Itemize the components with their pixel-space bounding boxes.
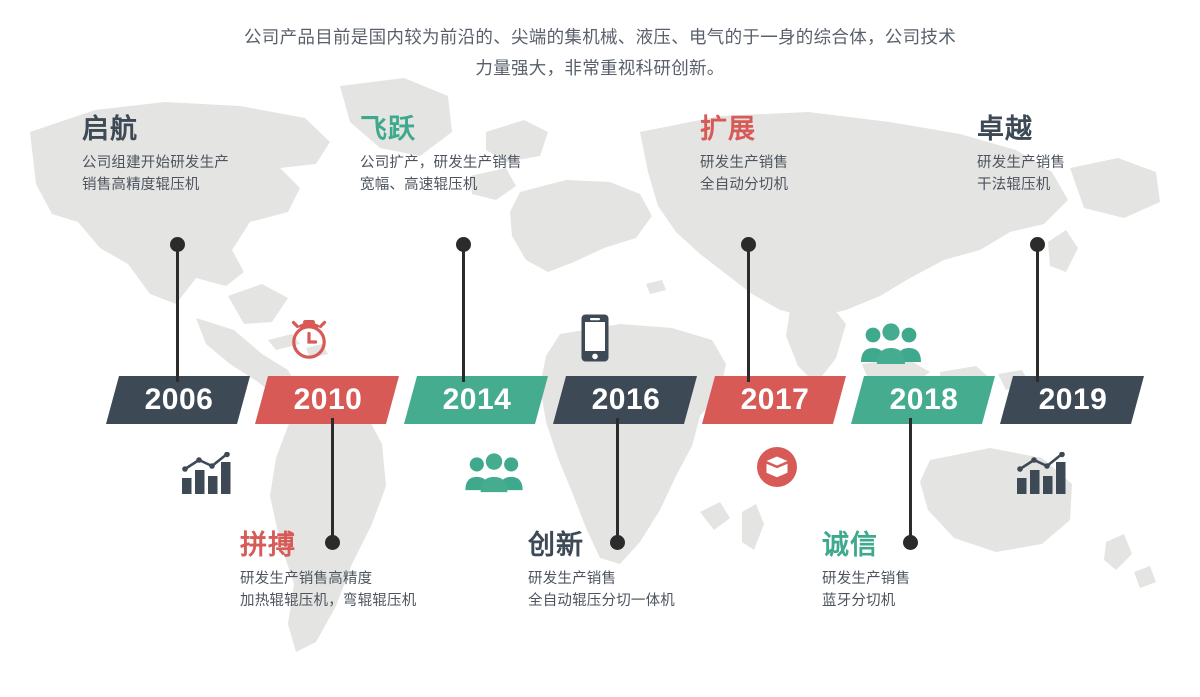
people-group-icon <box>860 322 922 366</box>
milestone-description: 公司组建开始研发生产 销售高精度辊压机 <box>82 152 312 196</box>
bar-chart-trend-icon <box>1015 452 1069 496</box>
alarm-clock-icon <box>286 314 332 362</box>
year-label: 2006 <box>145 383 214 417</box>
year-label: 2016 <box>592 383 661 417</box>
milestone-title: 飞跃 <box>360 112 595 146</box>
milestone-description: 公司扩产，研发生产销售 宽幅、高速辊压机 <box>360 152 595 196</box>
milestone-title: 启航 <box>82 112 312 146</box>
intro-paragraph: 公司产品目前是国内较为前沿的、尖端的集机械、液压、电气的于一身的综合体，公司技术… <box>0 22 1200 84</box>
year-label: 2014 <box>443 383 512 417</box>
milestone-description: 研发生产销售 干法辊压机 <box>977 152 1197 196</box>
year-label: 2019 <box>1039 383 1108 417</box>
pin-stem <box>909 418 912 543</box>
milestone-2019: 卓越 研发生产销售 干法辊压机 <box>977 112 1197 196</box>
pin-stem <box>176 244 179 382</box>
year-chip-2018[interactable]: 2018 <box>851 376 995 424</box>
people-group-icon <box>464 452 524 494</box>
open-box-badge-icon <box>757 447 797 487</box>
milestone-description: 研发生产销售 蓝牙分切机 <box>822 568 1072 612</box>
pin-stem <box>1036 244 1039 382</box>
milestone-2016: 创新 研发生产销售 全自动辊压分切一体机 <box>528 528 808 612</box>
year-label: 2017 <box>741 383 810 417</box>
year-chip-2006[interactable]: 2006 <box>106 376 250 424</box>
milestone-description: 研发生产销售高精度 加热辊辊压机，弯辊辊压机 <box>240 568 520 612</box>
year-chip-2019[interactable]: 2019 <box>1000 376 1144 424</box>
pin-stem <box>331 418 334 543</box>
milestone-title: 扩展 <box>700 112 930 146</box>
milestone-title: 诚信 <box>822 528 1072 562</box>
milestone-description: 研发生产销售 全自动分切机 <box>700 152 930 196</box>
milestone-2010: 拼搏 研发生产销售高精度 加热辊辊压机，弯辊辊压机 <box>240 528 520 612</box>
timeline-infographic: 公司产品目前是国内较为前沿的、尖端的集机械、液压、电气的于一身的综合体，公司技术… <box>0 0 1200 697</box>
year-label: 2010 <box>294 383 363 417</box>
pin-stem <box>616 418 619 543</box>
year-chip-2016[interactable]: 2016 <box>553 376 697 424</box>
milestone-2014: 飞跃 公司扩产，研发生产销售 宽幅、高速辊压机 <box>360 112 595 196</box>
bar-chart-trend-icon <box>180 452 234 496</box>
milestone-title: 卓越 <box>977 112 1197 146</box>
year-label: 2018 <box>890 383 959 417</box>
milestone-2006: 启航 公司组建开始研发生产 销售高精度辊压机 <box>82 112 312 196</box>
milestone-description: 研发生产销售 全自动辊压分切一体机 <box>528 568 808 612</box>
year-chip-2014[interactable]: 2014 <box>404 376 548 424</box>
pin-stem <box>747 244 750 382</box>
milestone-2017: 扩展 研发生产销售 全自动分切机 <box>700 112 930 196</box>
timeline-year-band: 2006 2010 2014 2016 2017 2018 2019 <box>0 376 1200 424</box>
milestone-2018: 诚信 研发生产销售 蓝牙分切机 <box>822 528 1072 612</box>
milestone-title: 拼搏 <box>240 528 520 562</box>
pin-stem <box>462 244 465 382</box>
year-chip-2017[interactable]: 2017 <box>702 376 846 424</box>
smartphone-icon <box>580 313 610 363</box>
year-chip-2010[interactable]: 2010 <box>255 376 399 424</box>
milestone-title: 创新 <box>528 528 808 562</box>
